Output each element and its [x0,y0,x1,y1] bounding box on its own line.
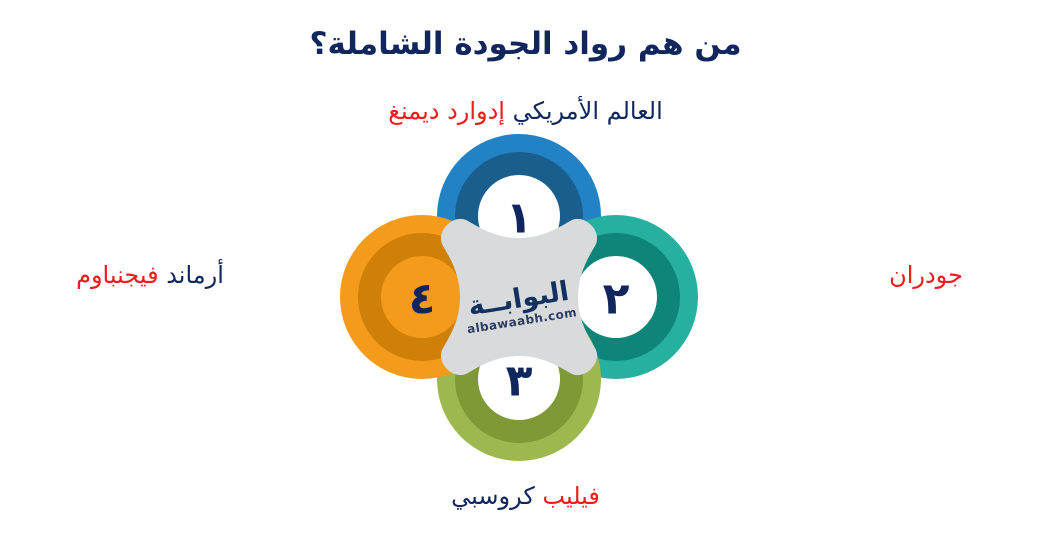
petal-1-number: ١ [506,193,533,244]
label-bottom-prefix: فيليب [542,482,599,510]
four-petal-diagram: ١ ٢ ٣ ٤ البوابــة albawaabh.com [331,124,711,472]
label-top-deming: العالم الأمريكي إدوارد ديمنغ [0,96,1051,126]
label-left-prefix: أرماند [166,261,224,289]
label-bottom-crosby: فيليب كروسبي [0,481,1051,511]
infographic-canvas: من هم رواد الجودة الشاملة؟ العالم الأمري… [0,0,1051,538]
petal-4-number: ٤ [409,274,436,325]
label-bottom-name: كروسبي [451,482,535,510]
label-top-name: إدوارد ديمنغ [388,97,505,125]
label-left-feigenbaum: أرماند فيجنباوم [0,260,300,290]
petal-3-number: ٣ [506,356,533,407]
page-title: من هم رواد الجودة الشاملة؟ [0,26,1051,63]
petal-2-number: ٢ [603,274,630,325]
label-right-juran: جودران [801,260,1051,290]
label-right-name: جودران [889,261,963,289]
label-left-name: فيجنباوم [76,261,158,289]
label-top-prefix: العالم الأمريكي [513,97,663,125]
